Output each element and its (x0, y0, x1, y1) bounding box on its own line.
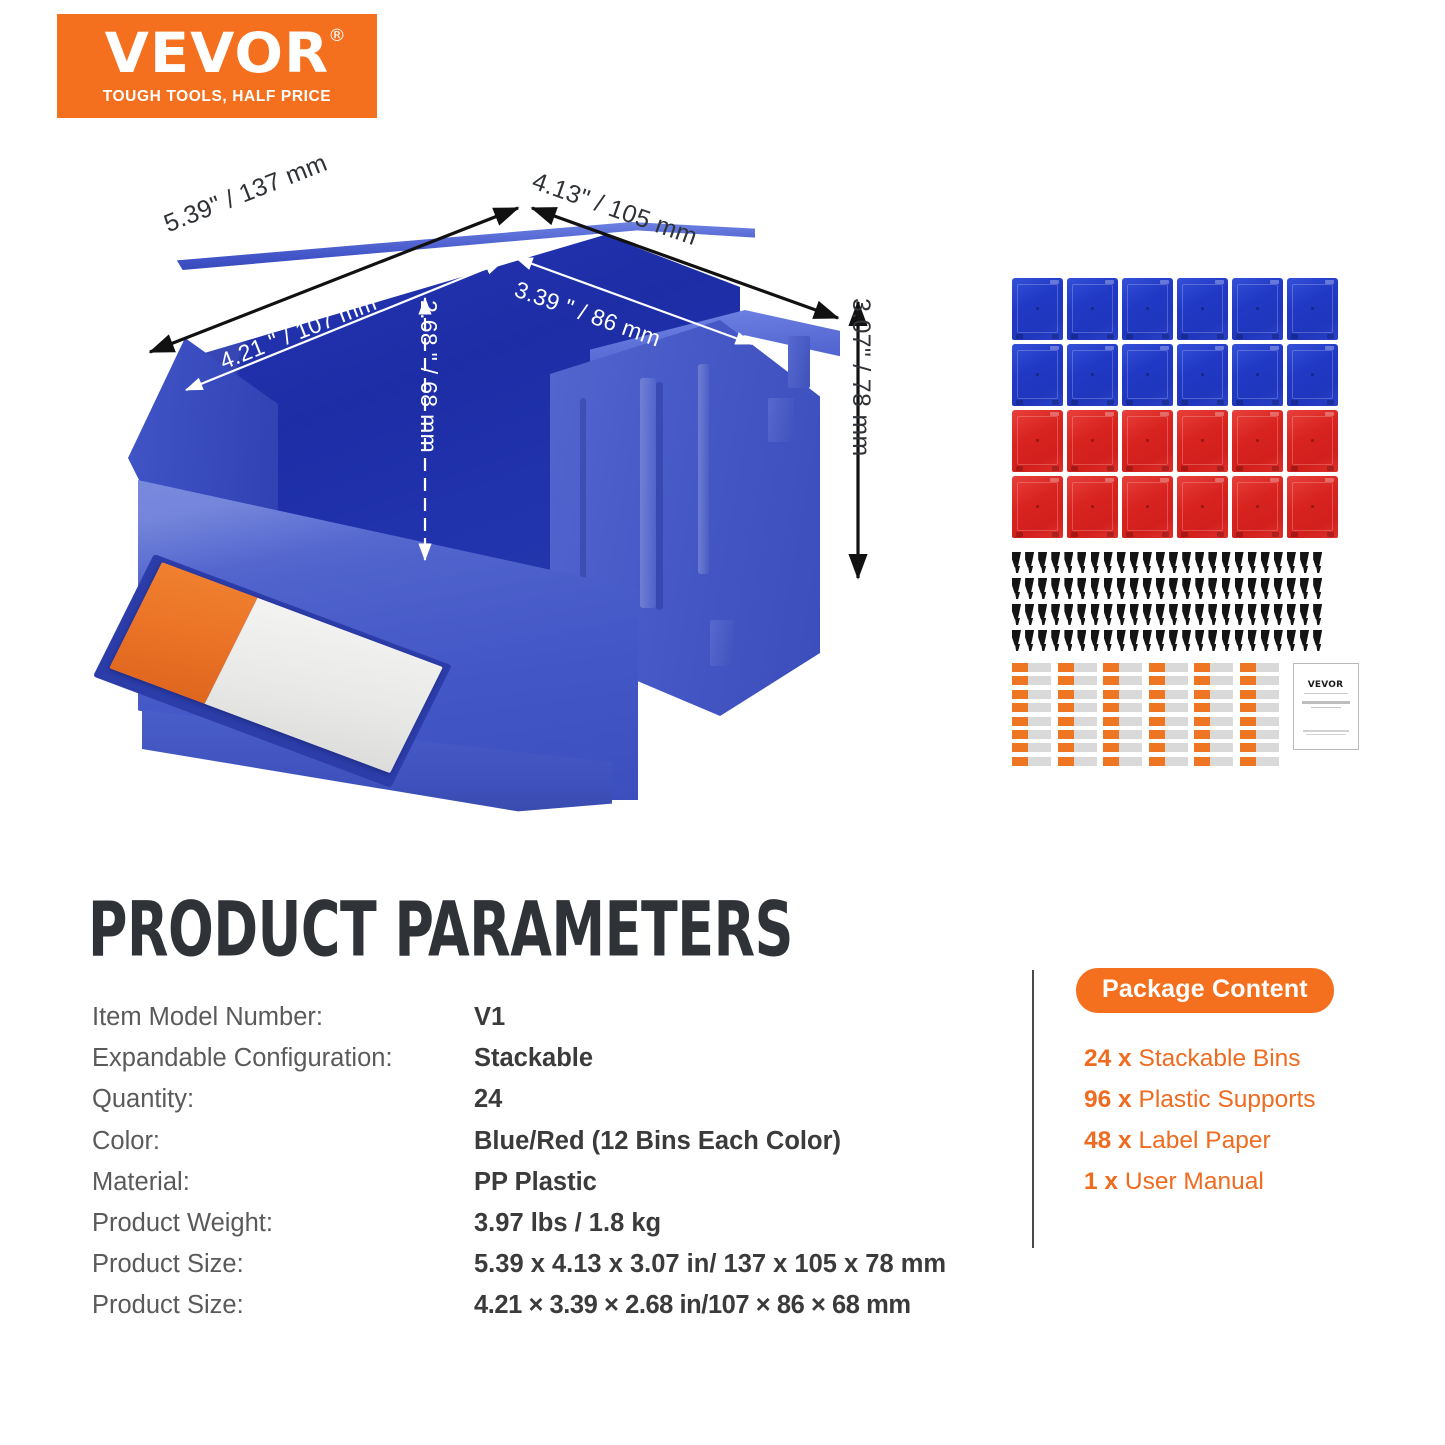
plastic-support (1091, 604, 1103, 626)
plastic-support (1261, 578, 1273, 600)
mini-bin-foot (1181, 334, 1188, 339)
product-parameters-table: Item Model Number:V1Expandable Configura… (92, 1003, 972, 1333)
plastic-support (1248, 604, 1260, 626)
label-paper-strip (1240, 676, 1279, 685)
plastic-support (1222, 578, 1234, 600)
label-paper-strip (1194, 690, 1233, 699)
plastic-support (1169, 552, 1181, 574)
parameter-value: PP Plastic (474, 1168, 597, 1197)
mini-bin-foot (1272, 334, 1279, 339)
parameter-label: Quantity: (92, 1085, 474, 1114)
label-paper-strip (1240, 730, 1279, 739)
mini-bin-tab (1105, 280, 1114, 284)
parameter-label: Product Size: (92, 1250, 474, 1279)
plastic-support (1313, 578, 1325, 600)
plastic-support (1104, 552, 1116, 574)
parameter-label: Product Weight: (92, 1209, 474, 1238)
mini-bin-blue (1122, 278, 1173, 340)
mini-bin-tab (1160, 478, 1169, 482)
plastic-support (1117, 552, 1129, 574)
plastic-support (1274, 578, 1286, 600)
mini-bin-tab (1215, 412, 1224, 416)
label-paper-strip (1149, 703, 1188, 712)
label-papers-row (1012, 676, 1279, 685)
label-paper-chip (1240, 676, 1256, 685)
page-title: PRODUCT PARAMETERS (88, 886, 793, 974)
mini-bin-red (1287, 476, 1338, 538)
label-paper-strip (1012, 743, 1051, 752)
supports-row (1012, 604, 1350, 626)
plastic-support (1261, 604, 1273, 626)
package-content-badge: Package Content (1076, 968, 1334, 1013)
mini-bin-red (1012, 410, 1063, 472)
mini-bin-tab (1160, 346, 1169, 350)
plastic-support (1064, 604, 1076, 626)
label-papers-row (1012, 717, 1279, 726)
label-paper-chip (1240, 690, 1256, 699)
label-paper-chip (1058, 757, 1074, 766)
plastic-support (1012, 552, 1024, 574)
supports-row (1012, 552, 1350, 574)
mini-bin-tab (1050, 412, 1059, 416)
plastic-support (1104, 604, 1116, 626)
package-content-item: 48 x Label Paper (1084, 1127, 1372, 1155)
label-papers-row (1012, 743, 1279, 752)
plastic-support (1195, 630, 1207, 652)
label-paper-chip (1012, 717, 1028, 726)
mini-bin-foot (1107, 334, 1114, 339)
label-paper-strip (1012, 717, 1051, 726)
plastic-support (1300, 552, 1312, 574)
label-paper-chip (1194, 757, 1210, 766)
plastic-support (1143, 630, 1155, 652)
user-manual: VEVOR (1293, 663, 1359, 750)
mini-bin-tab (1325, 346, 1334, 350)
plastic-support (1313, 630, 1325, 652)
parameter-label: Product Size: (92, 1291, 474, 1320)
mini-bin-foot (1052, 334, 1059, 339)
plastic-support (1038, 552, 1050, 574)
mini-bin-foot (1327, 466, 1334, 471)
label-paper-strip (1149, 730, 1188, 739)
label-paper-chip (1058, 676, 1074, 685)
mini-bin-red (1122, 476, 1173, 538)
mini-bins-grid (1012, 278, 1350, 538)
package-item-name: Plastic Supports (1139, 1086, 1316, 1113)
plastic-support (1077, 552, 1089, 574)
label-paper-strip (1149, 743, 1188, 752)
plastic-support (1130, 552, 1142, 574)
plastic-support (1156, 604, 1168, 626)
mini-bin-red (1067, 476, 1118, 538)
plastic-support (1300, 604, 1312, 626)
label-paper-chip (1012, 676, 1028, 685)
label-paper-strip (1058, 690, 1097, 699)
parameter-value: V1 (474, 1003, 505, 1032)
label-paper-chip (1149, 703, 1165, 712)
plastic-support (1261, 552, 1273, 574)
plastic-support (1248, 578, 1260, 600)
label-paper-chip (1103, 703, 1119, 712)
mini-bin-foot (1162, 466, 1169, 471)
label-paper-chip (1103, 743, 1119, 752)
vevor-logo: VEVOR ® TOUGH TOOLS, HALF PRICE (57, 14, 377, 118)
plastic-support (1222, 552, 1234, 574)
label-paper-chip (1194, 730, 1210, 739)
plastic-support (1248, 552, 1260, 574)
mini-bins-row (1012, 278, 1350, 340)
parameter-label: Item Model Number: (92, 1003, 474, 1032)
label-paper-chip (1149, 757, 1165, 766)
plastic-support (1156, 552, 1168, 574)
plastic-support (1261, 630, 1273, 652)
plastic-support (1169, 604, 1181, 626)
plastic-support (1143, 578, 1155, 600)
mini-bin-red (1067, 410, 1118, 472)
label-paper-strip (1240, 690, 1279, 699)
plastic-support (1287, 552, 1299, 574)
mini-bin-tab (1270, 280, 1279, 284)
parameter-row: Product Size:5.39 x 4.13 x 3.07 in/ 137 … (92, 1250, 972, 1291)
plastic-support (1130, 578, 1142, 600)
mini-bin-foot (1162, 400, 1169, 405)
label-paper-chip (1012, 730, 1028, 739)
mini-bin-tab (1050, 280, 1059, 284)
mini-bin-foot (1126, 334, 1133, 339)
mini-bin-foot (1272, 466, 1279, 471)
label-paper-chip (1240, 717, 1256, 726)
label-paper-chip (1058, 663, 1074, 672)
label-paper-strip (1240, 743, 1279, 752)
plastic-support (1169, 630, 1181, 652)
manual-placeholder-block (1302, 701, 1350, 704)
logo-wordmark-text: VEVOR (105, 21, 329, 85)
label-paper-strip (1012, 676, 1051, 685)
mini-bin-tab (1215, 346, 1224, 350)
mini-bin-foot (1126, 400, 1133, 405)
mini-bins-row (1012, 410, 1350, 472)
plastic-support (1077, 630, 1089, 652)
mini-bin-tab (1325, 412, 1334, 416)
plastic-support (1025, 552, 1037, 574)
label-paper-strip (1058, 663, 1097, 672)
mini-bin-foot (1052, 532, 1059, 537)
label-paper-strip (1012, 690, 1051, 699)
label-papers-row (1012, 663, 1279, 672)
label-paper-chip (1240, 663, 1256, 672)
parameter-value: 3.97 lbs / 1.8 kg (474, 1209, 661, 1238)
mini-bins-row (1012, 344, 1350, 406)
label-paper-strip (1058, 717, 1097, 726)
plastic-support (1038, 578, 1050, 600)
mini-bin-tab (1325, 478, 1334, 482)
package-contents-photo: VEVOR (1012, 278, 1350, 758)
package-content-panel: Package Content 24 x Stackable Bins96 x … (1032, 968, 1372, 1209)
label-paper-strip (1058, 757, 1097, 766)
label-paper-strip (1058, 730, 1097, 739)
mini-bin-foot (1071, 466, 1078, 471)
parameter-value: Blue/Red (12 Bins Each Color) (474, 1127, 841, 1156)
label-paper-chip (1149, 690, 1165, 699)
label-paper-strip (1240, 757, 1279, 766)
plastic-support (1195, 552, 1207, 574)
package-item-qty: 1 x (1084, 1168, 1118, 1195)
plastic-support (1051, 552, 1063, 574)
plastic-support (1038, 604, 1050, 626)
mini-bin-foot (1016, 334, 1023, 339)
plastic-support (1208, 630, 1220, 652)
plastic-support (1182, 552, 1194, 574)
mini-bin-foot (1181, 532, 1188, 537)
parameter-label: Expandable Configuration: (92, 1044, 474, 1073)
label-paper-chip (1058, 690, 1074, 699)
label-paper-chip (1194, 663, 1210, 672)
parameter-row: Material:PP Plastic (92, 1168, 972, 1209)
label-paper-strip (1149, 663, 1188, 672)
manual-logo: VEVOR (1308, 680, 1344, 690)
package-content-item: 96 x Plastic Supports (1084, 1086, 1372, 1114)
mini-bin-red (1232, 476, 1283, 538)
mini-bin-foot (1107, 532, 1114, 537)
mini-bin-blue (1177, 278, 1228, 340)
plastic-support (1235, 630, 1247, 652)
mini-bin-foot (1052, 466, 1059, 471)
mini-bin-red (1012, 476, 1063, 538)
parameter-row: Product Weight:3.97 lbs / 1.8 kg (92, 1209, 972, 1250)
mini-bin-red (1177, 476, 1228, 538)
label-paper-strip (1194, 676, 1233, 685)
plastic-support (1156, 630, 1168, 652)
mini-bin-blue (1012, 278, 1063, 340)
mini-bin-blue (1067, 344, 1118, 406)
label-paper-strip (1194, 743, 1233, 752)
mini-bin-foot (1126, 532, 1133, 537)
mini-bin-foot (1217, 334, 1224, 339)
mini-bin-foot (1162, 334, 1169, 339)
package-content-list: 24 x Stackable Bins96 x Plastic Supports… (1084, 1045, 1372, 1196)
parameter-label: Color: (92, 1127, 474, 1156)
label-paper-chip (1240, 757, 1256, 766)
plastic-support (1130, 630, 1142, 652)
label-paper-strip (1103, 703, 1142, 712)
supports-row (1012, 578, 1350, 600)
plastic-support (1300, 630, 1312, 652)
mini-bin-red (1232, 410, 1283, 472)
panel-divider (1032, 970, 1034, 1248)
mini-bin-blue (1287, 344, 1338, 406)
parameter-value: 24 (474, 1085, 502, 1114)
plastic-support (1274, 604, 1286, 626)
mini-bin-blue (1067, 278, 1118, 340)
parameter-value: 4.21 × 3.39 × 2.68 in/107 × 86 × 68 mm (474, 1291, 911, 1320)
label-paper-strip (1012, 757, 1051, 766)
plastic-support (1222, 630, 1234, 652)
plastic-support (1091, 552, 1103, 574)
mini-bin-tab (1270, 478, 1279, 482)
label-paper-strip (1058, 743, 1097, 752)
package-item-qty: 48 x (1084, 1127, 1132, 1154)
package-content-item: 1 x User Manual (1084, 1168, 1372, 1196)
mini-bin-foot (1291, 400, 1298, 405)
mini-bin-foot (1181, 400, 1188, 405)
plastic-support (1143, 604, 1155, 626)
plastic-support (1195, 578, 1207, 600)
mini-bin-foot (1016, 466, 1023, 471)
mini-bin-blue (1177, 344, 1228, 406)
plastic-support (1222, 604, 1234, 626)
label-paper-strip (1194, 757, 1233, 766)
label-paper-strip (1240, 663, 1279, 672)
plastic-support (1077, 578, 1089, 600)
label-paper-strip (1103, 743, 1142, 752)
manual-placeholder-line (1303, 730, 1349, 731)
plastic-support (1077, 604, 1089, 626)
mini-bin-foot (1236, 334, 1243, 339)
logo-wordmark: VEVOR ® (105, 26, 329, 81)
plastic-support (1248, 630, 1260, 652)
label-paper-strip (1103, 676, 1142, 685)
mini-bin-tab (1325, 280, 1334, 284)
mini-bin-foot (1272, 532, 1279, 537)
mini-bin-foot (1291, 334, 1298, 339)
mini-bin-tab (1050, 346, 1059, 350)
package-item-name: Stackable Bins (1139, 1045, 1301, 1072)
plastic-support (1169, 578, 1181, 600)
mini-bin-foot (1291, 466, 1298, 471)
label-papers-and-manual: VEVOR (1012, 663, 1350, 766)
mini-bin-foot (1217, 466, 1224, 471)
label-paper-strip (1058, 676, 1097, 685)
plastic-support (1012, 578, 1024, 600)
parameter-label: Material: (92, 1168, 474, 1197)
label-paper-strip (1149, 757, 1188, 766)
mini-bin-foot (1327, 334, 1334, 339)
label-paper-strip (1194, 730, 1233, 739)
mini-bin-tab (1160, 412, 1169, 416)
label-paper-chip (1194, 676, 1210, 685)
plastic-support (1104, 630, 1116, 652)
plastic-support (1156, 578, 1168, 600)
mini-bin-foot (1236, 400, 1243, 405)
mini-bin-tab (1050, 478, 1059, 482)
label-papers-row (1012, 703, 1279, 712)
mini-bin-blue (1122, 344, 1173, 406)
label-paper-chip (1012, 703, 1028, 712)
label-paper-strip (1149, 717, 1188, 726)
label-paper-strip (1194, 703, 1233, 712)
label-paper-chip (1149, 743, 1165, 752)
plastic-support (1287, 578, 1299, 600)
mini-bin-foot (1236, 466, 1243, 471)
plastic-support (1182, 578, 1194, 600)
mini-bin-tab (1105, 346, 1114, 350)
plastic-support (1208, 578, 1220, 600)
mini-bins-row (1012, 476, 1350, 538)
mini-bin-foot (1236, 532, 1243, 537)
plastic-support (1313, 604, 1325, 626)
label-paper-strip (1103, 690, 1142, 699)
mini-bin-blue (1232, 278, 1283, 340)
plastic-support (1117, 630, 1129, 652)
plastic-support (1064, 552, 1076, 574)
label-paper-chip (1194, 717, 1210, 726)
parameter-row: Expandable Configuration:Stackable (92, 1044, 972, 1085)
label-paper-strip (1058, 703, 1097, 712)
label-paper-chip (1058, 743, 1074, 752)
label-papers-row (1012, 757, 1279, 766)
mini-bin-foot (1327, 400, 1334, 405)
label-paper-strip (1240, 703, 1279, 712)
label-paper-chip (1012, 690, 1028, 699)
label-paper-strip (1103, 717, 1142, 726)
mini-bin-foot (1181, 466, 1188, 471)
label-paper-strip (1194, 717, 1233, 726)
parameter-row: Color:Blue/Red (12 Bins Each Color) (92, 1127, 972, 1168)
label-paper-chip (1149, 663, 1165, 672)
label-paper-strip (1194, 663, 1233, 672)
label-paper-chip (1103, 730, 1119, 739)
mini-bin-tab (1270, 346, 1279, 350)
parameter-value: Stackable (474, 1044, 593, 1073)
label-paper-chip (1103, 676, 1119, 685)
label-paper-strip (1240, 717, 1279, 726)
plastic-support (1038, 630, 1050, 652)
registered-trademark-icon: ® (328, 28, 347, 45)
manual-placeholder-line (1304, 693, 1348, 694)
plastic-support (1012, 630, 1024, 652)
mini-bin-foot (1071, 334, 1078, 339)
plastic-support (1143, 552, 1155, 574)
plastic-support (1235, 604, 1247, 626)
label-paper-strip (1149, 676, 1188, 685)
mini-bin-foot (1016, 400, 1023, 405)
package-item-qty: 96 x (1084, 1086, 1132, 1113)
mini-bin-tab (1105, 412, 1114, 416)
label-paper-strip (1012, 703, 1051, 712)
manual-placeholder-line (1306, 734, 1346, 735)
manual-placeholder-line (1311, 707, 1341, 708)
label-papers-row (1012, 690, 1279, 699)
plastic-support (1117, 604, 1129, 626)
label-paper-strip (1149, 690, 1188, 699)
label-paper-chip (1194, 690, 1210, 699)
plastic-support (1025, 604, 1037, 626)
label-paper-chip (1149, 730, 1165, 739)
plastic-support (1130, 604, 1142, 626)
package-content-item: 24 x Stackable Bins (1084, 1045, 1372, 1073)
mini-bin-blue (1012, 344, 1063, 406)
plastic-support (1117, 578, 1129, 600)
label-paper-chip (1058, 717, 1074, 726)
mini-bin-foot (1016, 532, 1023, 537)
product-photo: 5.39" / 137 mm 4.13" / 105 mm 3.07" / 78… (120, 150, 920, 810)
label-paper-chip (1058, 703, 1074, 712)
plastic-support (1287, 630, 1299, 652)
label-paper-chip (1149, 676, 1165, 685)
mini-bin-tab (1160, 280, 1169, 284)
mini-bin-foot (1052, 400, 1059, 405)
plastic-support (1235, 578, 1247, 600)
plastic-supports-grid (1012, 552, 1350, 652)
plastic-support (1025, 630, 1037, 652)
mini-bin-foot (1291, 532, 1298, 537)
plastic-support (1064, 578, 1076, 600)
label-paper-chip (1103, 757, 1119, 766)
parameter-row: Item Model Number:V1 (92, 1003, 972, 1044)
parameter-row: Product Size:4.21 × 3.39 × 2.68 in/107 ×… (92, 1291, 972, 1332)
mini-bin-red (1287, 410, 1338, 472)
parameter-value: 5.39 x 4.13 x 3.07 in/ 137 x 105 x 78 mm (474, 1250, 946, 1279)
